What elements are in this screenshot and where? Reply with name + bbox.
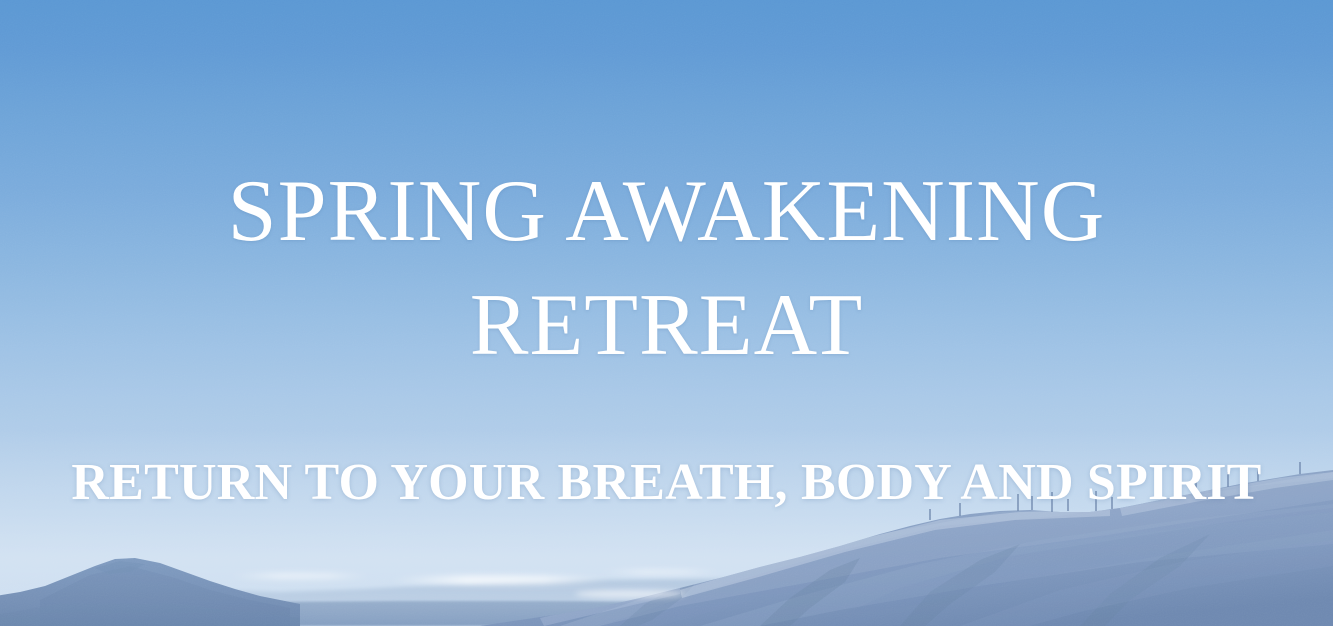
subheadline: RETURN TO YOUR BREATH, BODY AND SPIRIT xyxy=(0,457,1333,509)
spring-awakening-retreat-banner: SPRING AWAKENING RETREAT RETURN TO YOUR … xyxy=(0,0,1333,626)
headline-line-2: RETREAT xyxy=(0,282,1333,370)
slope-cloud xyxy=(575,590,685,598)
headline-line-1: SPRING AWAKENING xyxy=(0,168,1333,256)
